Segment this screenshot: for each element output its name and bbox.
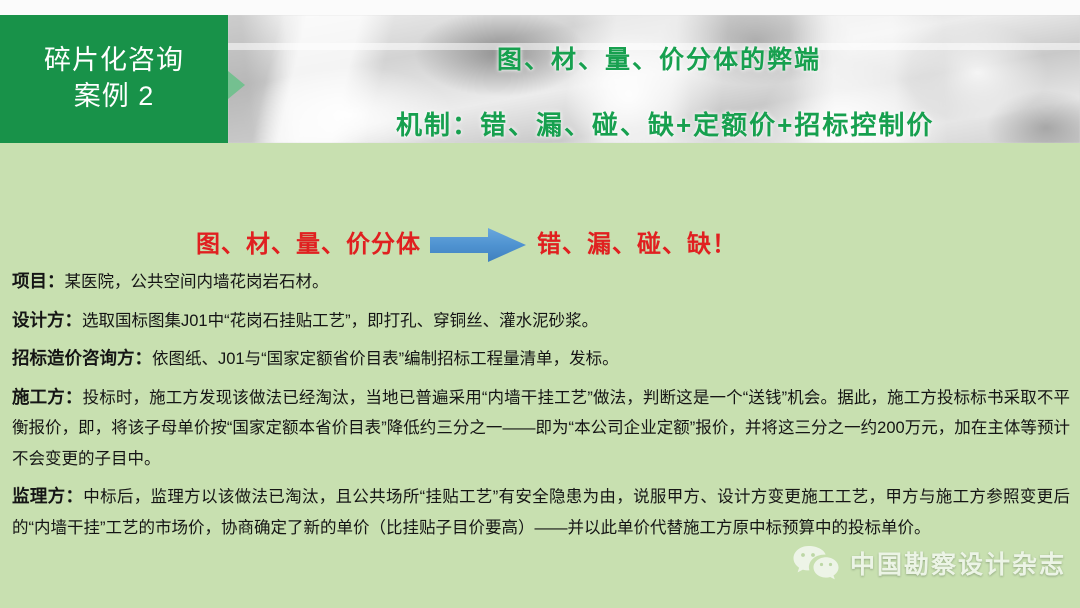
paragraph-designer: 设计方：选取国标图集J01中“花岗石挂贴工艺”，即打孔、穿铜丝、灌水泥砂浆。 xyxy=(12,304,1070,337)
watermark: 中国勘察设计杂志 xyxy=(792,544,1066,582)
top-white-strip xyxy=(0,0,1080,15)
headline-left-text: 图、材、量、价分体 xyxy=(196,224,421,259)
paragraph-lead-designer: 设计方： xyxy=(12,310,82,330)
paragraph-project: 项目：某医院，公共空间内墙花岗岩石材。 xyxy=(12,265,1070,298)
case-title-badge: 碎片化咨询 案例 2 xyxy=(0,15,228,143)
watermark-text: 中国勘察设计杂志 xyxy=(850,545,1066,581)
paragraph-lead-project: 项目： xyxy=(12,271,65,291)
right-arrow-icon xyxy=(430,228,526,262)
slide-canvas: 碎片化咨询 案例 2 图、材、量、价分体的弊端 机制：错、漏、碰、缺+定额价+招… xyxy=(0,0,1080,608)
paragraph-lead-cost-consultant: 招标造价咨询方： xyxy=(12,348,152,368)
badge-notch-triangle xyxy=(228,71,245,99)
headline-row: 图、材、量、价分体 错、漏、碰、缺！ xyxy=(0,218,1080,264)
headline-right-text: 错、漏、碰、缺！ xyxy=(537,224,737,259)
body-text-block: 项目：某医院，公共空间内墙花岗岩石材。 设计方：选取国标图集J01中“花岗石挂贴… xyxy=(12,265,1070,549)
paragraph-text-cost-consultant: 依图纸、J01与“国家定额省价目表”编制招标工程量清单，发标。 xyxy=(152,350,619,368)
paragraph-supervisor: 监理方：中标后，监理方以该做法已淘汰，且公共场所“挂贴工艺”有安全隐患为由，说服… xyxy=(12,480,1070,543)
paragraph-text-supervisor: 中标后，监理方以该做法已淘汰，且公共场所“挂贴工艺”有安全隐患为由，说服甲方、设… xyxy=(12,488,1070,537)
paragraph-contractor: 施工方：投标时，施工方发现该做法已经淘汰，当地已普遍采用“内墙干挂工艺”做法，判… xyxy=(12,381,1070,475)
case-title-text: 碎片化咨询 案例 2 xyxy=(44,43,184,114)
paragraph-lead-supervisor: 监理方： xyxy=(12,486,83,506)
paragraph-cost-consultant: 招标造价咨询方：依图纸、J01与“国家定额省价目表”编制招标工程量清单，发标。 xyxy=(12,342,1070,375)
paragraph-lead-contractor: 施工方： xyxy=(12,387,83,407)
wechat-icon xyxy=(792,544,840,582)
paragraph-text-designer: 选取国标图集J01中“花岗石挂贴工艺”，即打孔、穿铜丝、灌水泥砂浆。 xyxy=(82,312,598,330)
banner-heading-line1: 图、材、量、价分体的弊端 xyxy=(497,40,821,76)
paragraph-text-contractor: 投标时，施工方发现该做法已经淘汰，当地已普遍采用“内墙干挂工艺”做法，判断这是一… xyxy=(12,389,1070,468)
banner-heading-line2: 机制：错、漏、碰、缺+定额价+招标控制价 xyxy=(396,105,934,142)
paragraph-text-project: 某医院，公共空间内墙花岗岩石材。 xyxy=(65,273,329,291)
